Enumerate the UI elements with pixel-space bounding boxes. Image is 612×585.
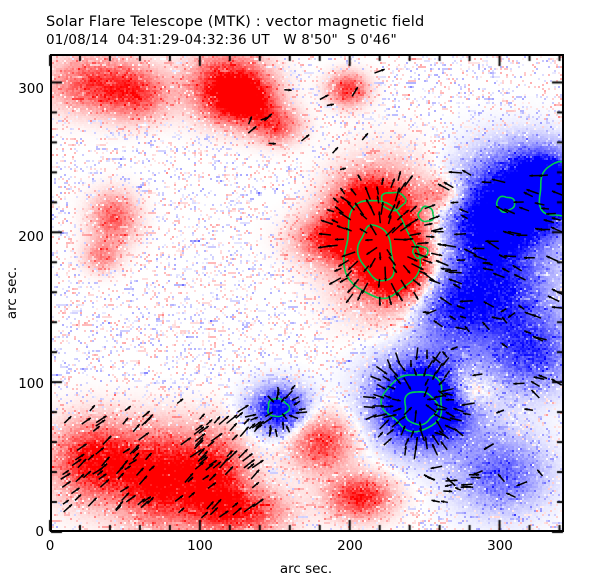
y-tick-label-200: 200 [4, 229, 44, 245]
magnetogram-image [50, 54, 564, 532]
magnetogram-figure: Solar Flare Telescope (MTK) : vector mag… [0, 0, 612, 585]
x-axis-title: arc sec. [280, 561, 332, 577]
x-tick-label-300: 300 [487, 538, 513, 554]
y-tick-label-100: 100 [4, 376, 44, 392]
y-tick-label-0: 0 [4, 524, 44, 540]
page-title: Solar Flare Telescope (MTK) : vector mag… [46, 14, 424, 30]
observation-subtitle: 01/08/14 04:31:29-04:32:36 UT W 8'50" S … [46, 32, 397, 48]
y-tick-label-300: 300 [4, 81, 44, 97]
x-tick-label-0: 0 [46, 538, 55, 554]
x-tick-label-100: 100 [187, 538, 213, 554]
plot-area [50, 54, 564, 532]
x-tick-label-200: 200 [337, 538, 363, 554]
y-axis-title: arc sec. [4, 253, 20, 333]
